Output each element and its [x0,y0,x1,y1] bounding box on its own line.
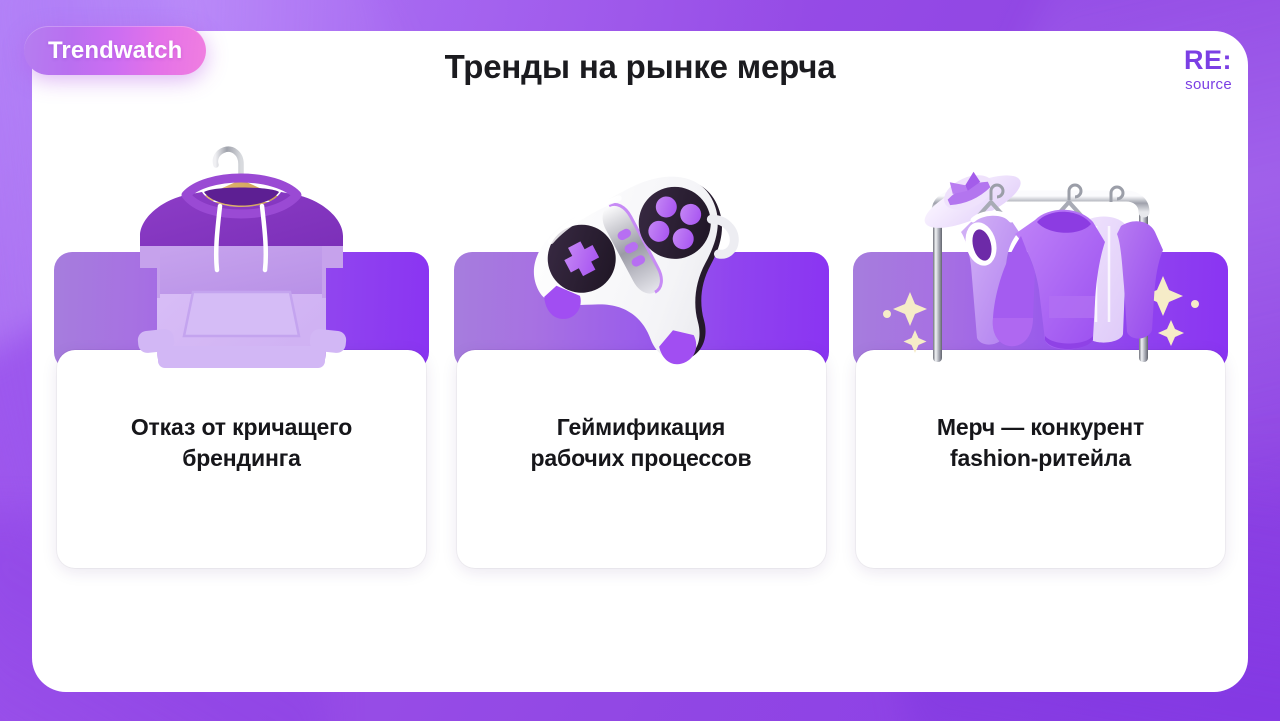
card-label: Геймификация рабочих процессов [476,412,806,474]
trend-card-row: Отказ от кричащего брендинга [54,252,1228,568]
card-body: Отказ от кричащего брендинга [57,350,426,568]
trendwatch-badge: Trendwatch [24,26,206,75]
card-body: Геймификация рабочих процессов [457,350,826,568]
logo-sub-text: source [1184,77,1232,92]
trend-card[interactable]: Геймификация рабочих процессов [454,252,829,568]
card-label: Мерч — конкурент fashion-ритейла [876,412,1206,474]
trend-card[interactable]: Отказ от кричащего брендинга [54,252,429,568]
trend-card[interactable]: Мерч — конкурент fashion-ритейла [853,252,1228,568]
resource-logo: RE: source [1184,47,1232,92]
slide-canvas: Trendwatch Тренды на рынке мерча RE: sou… [0,0,1280,721]
card-label: Отказ от кричащего брендинга [77,412,407,474]
card-body: Мерч — конкурент fashion-ритейла [856,350,1225,568]
logo-main-text: RE: [1184,47,1232,74]
trendwatch-badge-label: Trendwatch [48,37,182,65]
sparkle-decoration [853,252,1228,370]
